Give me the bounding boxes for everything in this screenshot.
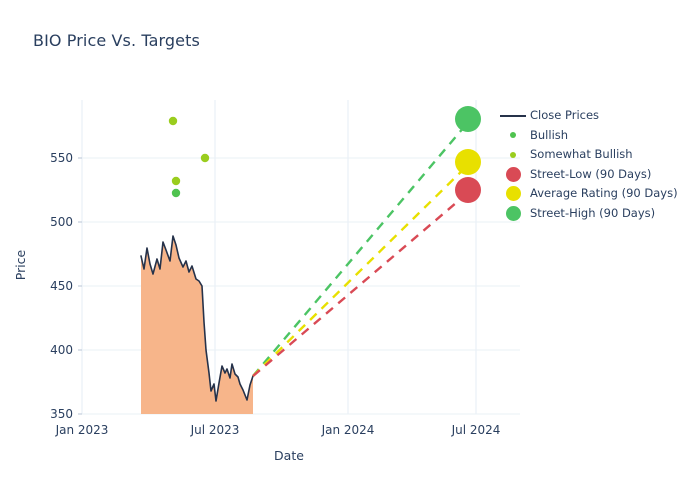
legend-label: Average Rating (90 Days): [530, 188, 678, 200]
legend-label: Close Prices: [530, 110, 599, 122]
average-rating-projection-line: [253, 163, 470, 376]
y-tick-350: 350: [50, 407, 73, 421]
legend-label: Street-Low (90 Days): [530, 169, 651, 181]
somewhat-bullish-dot: [172, 177, 180, 185]
y-tick-450: 450: [50, 279, 73, 293]
street-low-projection-line: [253, 191, 470, 376]
x-axis-title: Date: [274, 448, 304, 463]
somewhat-bullish-dot-icon: [496, 152, 530, 158]
x-tick-jul-2023: Jul 2023: [190, 423, 240, 437]
somewhat-bullish-dot: [201, 154, 209, 162]
legend-item-average-rating[interactable]: Average Rating (90 Days): [496, 184, 696, 204]
legend-label: Street-High (90 Days): [530, 208, 655, 220]
somewhat-bullish-dot: [169, 117, 177, 125]
target-markers: [455, 106, 481, 203]
y-tick-550: 550: [50, 151, 73, 165]
legend-item-bullish[interactable]: Bullish: [496, 126, 696, 146]
legend-item-somewhat-bullish[interactable]: Somewhat Bullish: [496, 145, 696, 165]
y-tick-400: 400: [50, 343, 73, 357]
legend-item-street-low[interactable]: Street-Low (90 Days): [496, 165, 696, 185]
analyst-rating-dots: [169, 117, 209, 197]
street-low-target-marker: [455, 177, 481, 203]
y-tick-500: 500: [50, 215, 73, 229]
close-prices-line-icon: [496, 115, 530, 117]
legend-label: Bullish: [530, 130, 568, 142]
x-tick-jan-2024: Jan 2024: [321, 423, 375, 437]
street-high-dot-icon: [496, 206, 530, 221]
chart-container: BIO Price Vs. Targets: [0, 0, 700, 500]
legend-item-close-prices[interactable]: Close Prices: [496, 106, 696, 126]
street-high-target-marker: [455, 106, 481, 132]
x-axis-tick-labels: Jan 2023 Jul 2023 Jan 2024 Jul 2024: [55, 423, 501, 437]
x-tick-jan-2023: Jan 2023: [55, 423, 109, 437]
plot-area: 550 500 450 400 350 Jan 2023 Jul 2023 Ja…: [0, 0, 700, 500]
legend-item-street-high[interactable]: Street-High (90 Days): [496, 204, 696, 224]
y-axis-title: Price: [13, 249, 28, 280]
bullish-dot-icon: [496, 132, 530, 138]
chart-legend: Close Prices Bullish Somewhat Bullish St…: [496, 106, 696, 223]
street-low-dot-icon: [496, 167, 530, 182]
average-rating-dot-icon: [496, 186, 530, 201]
legend-label: Somewhat Bullish: [530, 149, 633, 161]
y-axis-tick-labels: 550 500 450 400 350: [50, 151, 73, 421]
bullish-dot: [172, 189, 180, 197]
x-tick-jul-2024: Jul 2024: [451, 423, 501, 437]
average-rating-target-marker: [455, 149, 481, 175]
